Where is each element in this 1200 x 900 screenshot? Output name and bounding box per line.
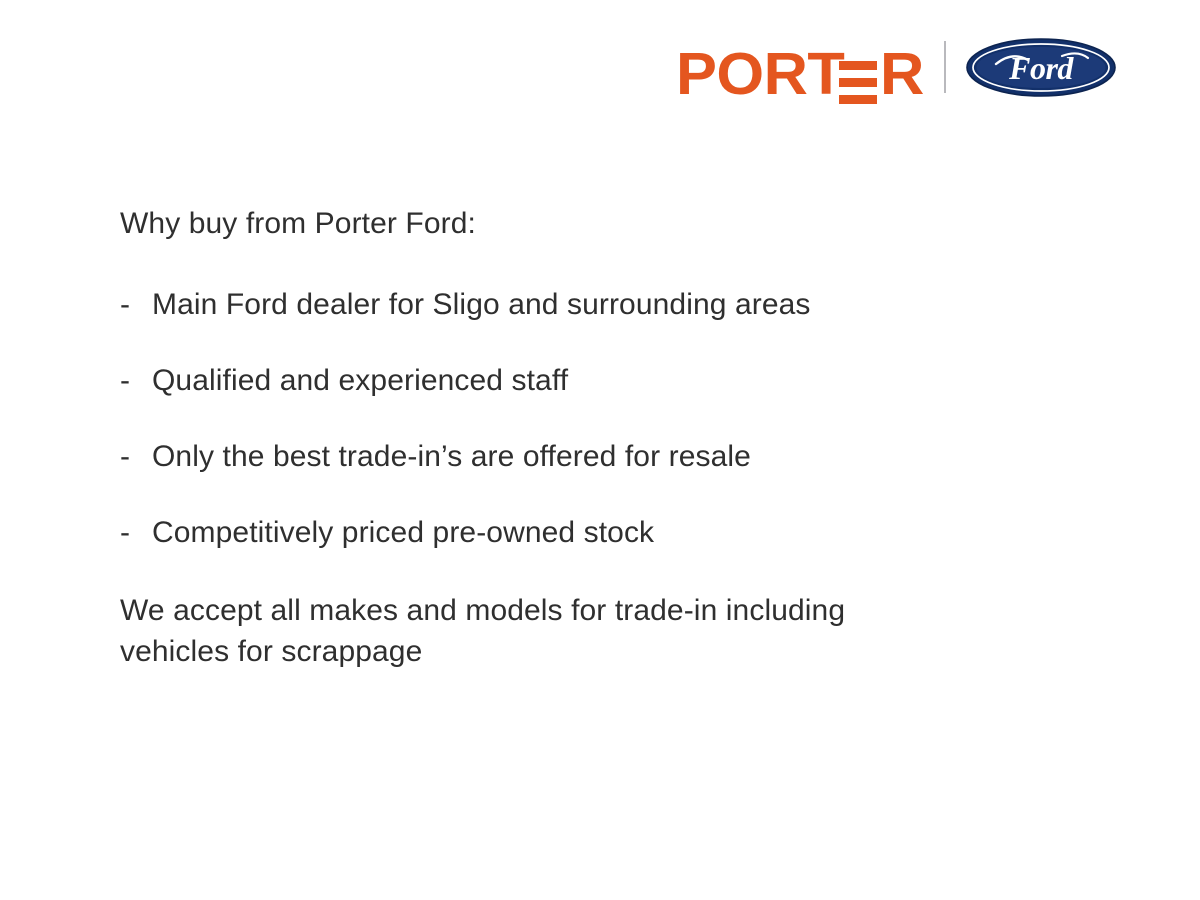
bullet-text: Main Ford dealer for Sligo and surroundi… bbox=[152, 286, 1040, 324]
bullet-marker: - bbox=[120, 514, 152, 552]
bullet-marker: - bbox=[120, 286, 152, 324]
slide-heading: Why buy from Porter Ford: bbox=[120, 205, 1040, 243]
porter-wordmark-part1: PORT bbox=[676, 44, 844, 104]
ford-oval-logo: Ford bbox=[966, 38, 1116, 97]
list-item: - Competitively priced pre-owned stock bbox=[120, 514, 1040, 552]
bullet-text: Competitively priced pre-owned stock bbox=[152, 514, 1040, 552]
porter-wordmark: PORT R bbox=[676, 30, 922, 104]
bullet-marker: - bbox=[120, 362, 152, 400]
logo-divider bbox=[944, 41, 946, 93]
slide-canvas: PORT R Ford Why buy from Porter Ford: bbox=[0, 0, 1200, 900]
porter-stylized-e-icon bbox=[839, 61, 877, 104]
bullet-text: Only the best trade-in’s are offered for… bbox=[152, 438, 1040, 476]
list-item: - Only the best trade-in’s are offered f… bbox=[120, 438, 1040, 476]
bullet-marker: - bbox=[120, 438, 152, 476]
benefits-bullet-list: - Main Ford dealer for Sligo and surroun… bbox=[120, 286, 1040, 552]
closing-paragraph: We accept all makes and models for trade… bbox=[120, 590, 960, 672]
bullet-text: Qualified and experienced staff bbox=[152, 362, 1040, 400]
ford-oval-icon: Ford bbox=[966, 38, 1116, 97]
list-item: - Qualified and experienced staff bbox=[120, 362, 1040, 400]
slide-body: Why buy from Porter Ford: - Main Ford de… bbox=[120, 205, 1040, 672]
porter-wordmark-part2: R bbox=[880, 44, 924, 104]
porter-ford-logo-lockup: PORT R Ford bbox=[676, 30, 1128, 104]
list-item: - Main Ford dealer for Sligo and surroun… bbox=[120, 286, 1040, 324]
